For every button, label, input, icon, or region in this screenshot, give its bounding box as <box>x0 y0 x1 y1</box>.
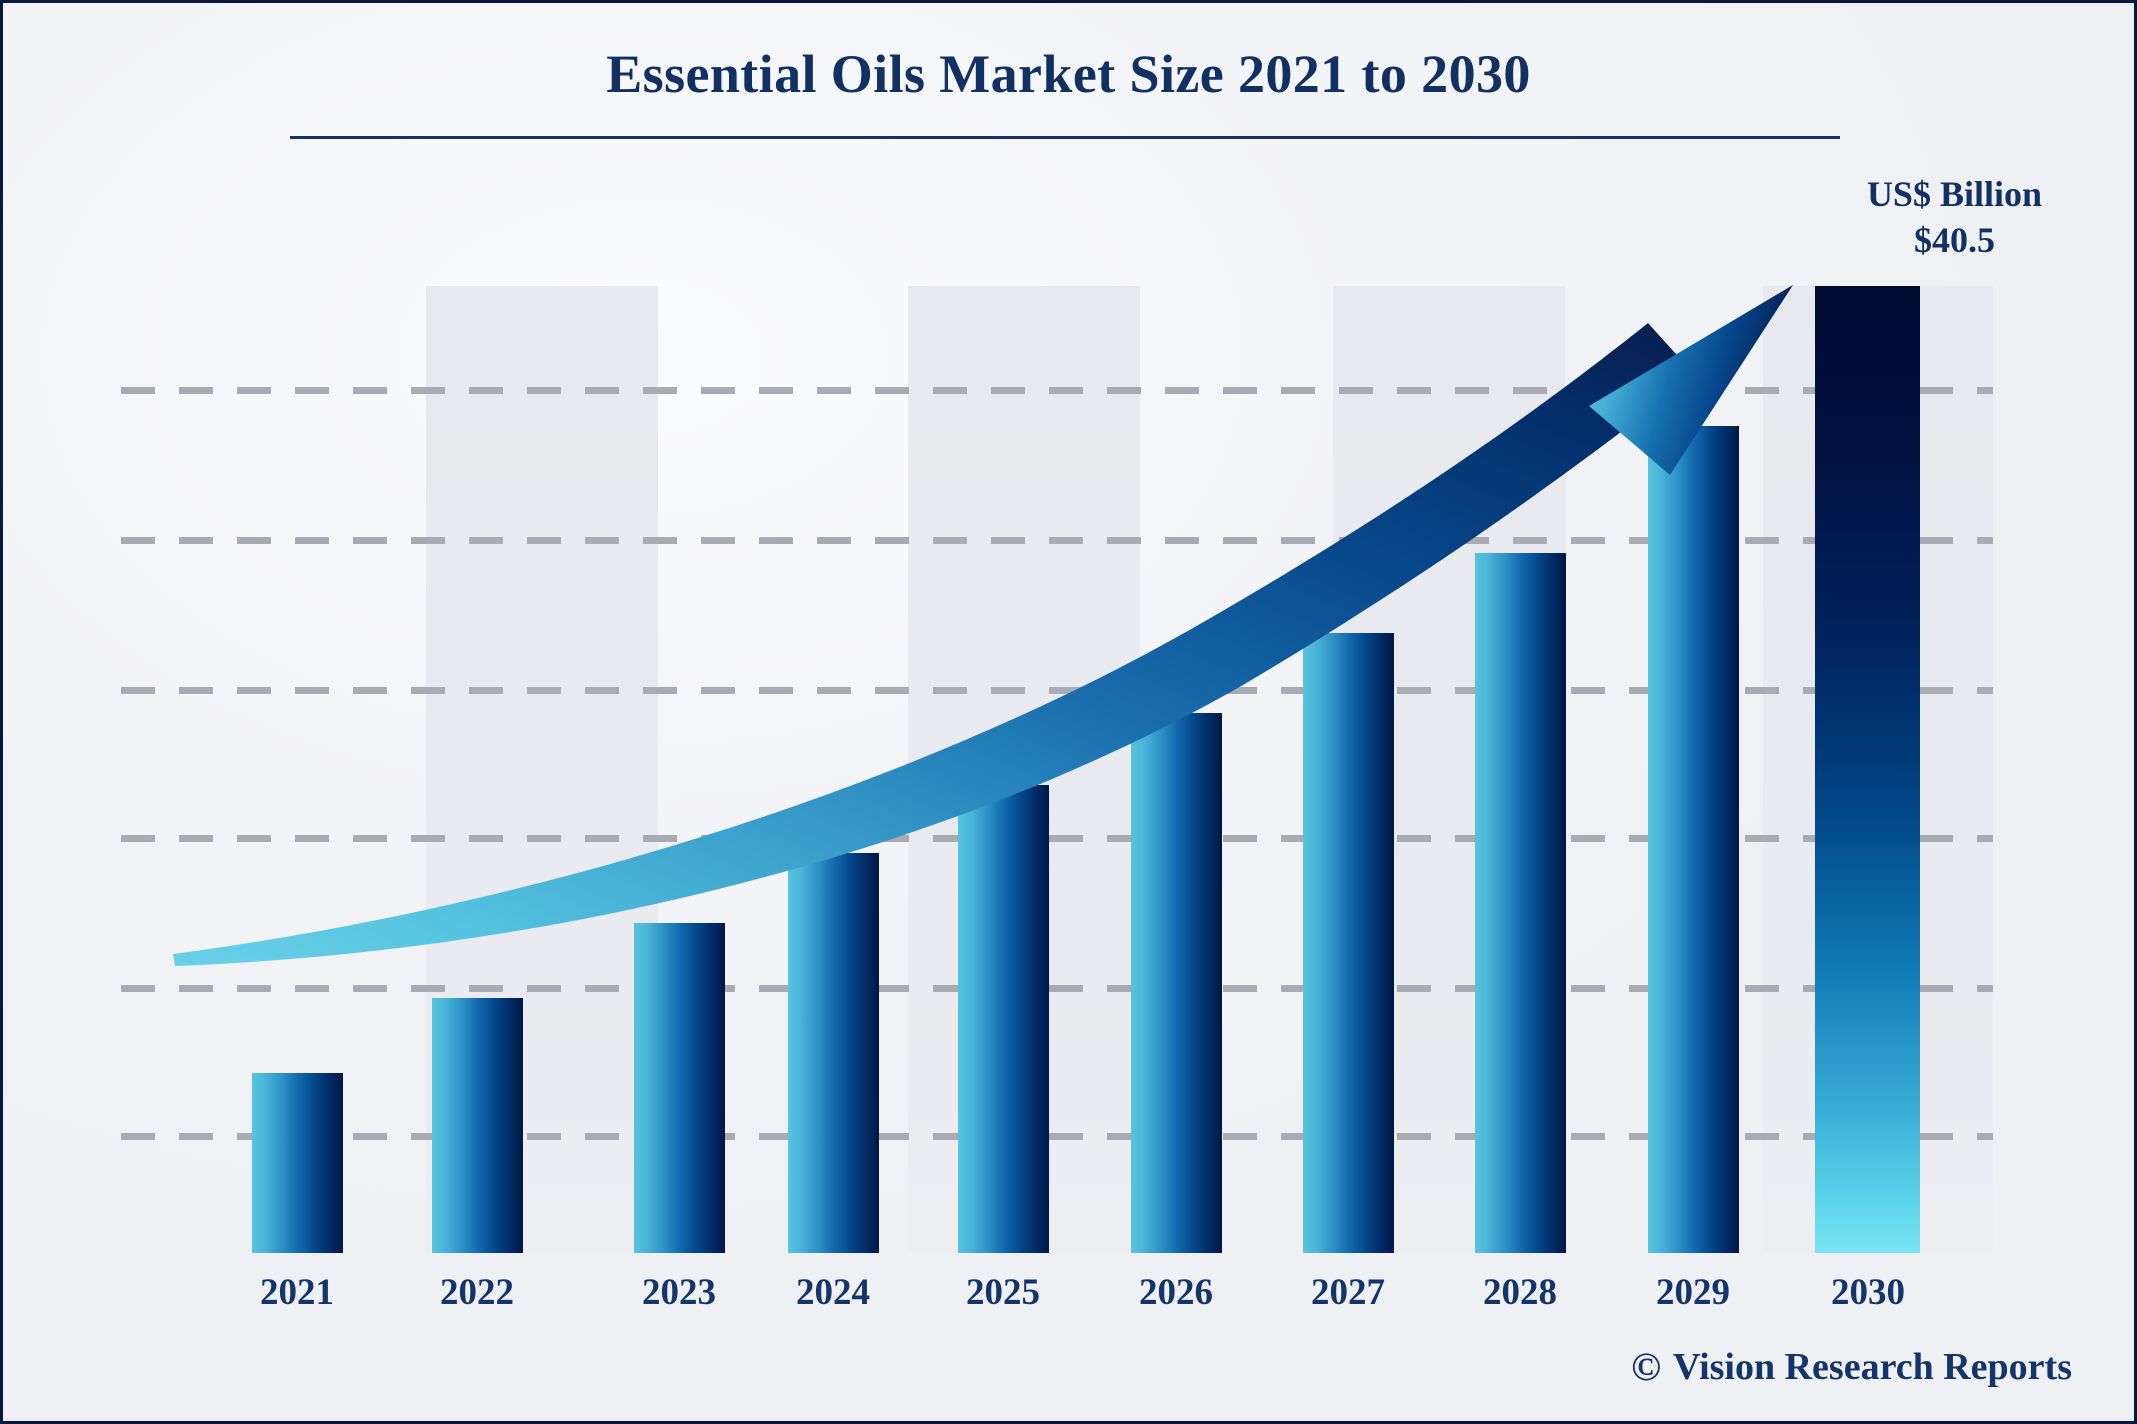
bar-2028[interactable] <box>1475 553 1566 1253</box>
xaxis-label-2030: 2030 <box>1803 1271 1933 1314</box>
chart-canvas: Essential Oils Market Size 2021 to 2030 … <box>0 0 2137 1424</box>
footer-watermark: © Vision Research Reports <box>1631 1345 2072 1389</box>
bar-2030[interactable] <box>1815 286 1920 1253</box>
bar-2027[interactable] <box>1303 633 1394 1253</box>
xaxis-label-2021: 2021 <box>232 1271 362 1314</box>
footer-text: Vision Research Reports <box>1673 1345 2072 1389</box>
bar-2029[interactable] <box>1648 426 1739 1253</box>
xaxis-label-2027: 2027 <box>1283 1271 1413 1314</box>
bar-2024[interactable] <box>788 853 879 1253</box>
xaxis-label-2022: 2022 <box>412 1271 542 1314</box>
xaxis-label-2025: 2025 <box>938 1271 1068 1314</box>
gridline <box>121 387 1993 394</box>
bar-2026[interactable] <box>1131 713 1222 1253</box>
xaxis-label-2028: 2028 <box>1455 1271 1585 1314</box>
xaxis-label-2029: 2029 <box>1628 1271 1758 1314</box>
copyright-icon: © <box>1631 1347 1661 1387</box>
bar-2022[interactable] <box>432 998 523 1253</box>
plot-area: 2021 2022 2023 2024 2025 2026 2027 2028 … <box>3 3 2137 1424</box>
bar-2025[interactable] <box>958 785 1049 1253</box>
bar-2023[interactable] <box>634 923 725 1253</box>
xaxis-label-2023: 2023 <box>614 1271 744 1314</box>
bar-2021[interactable] <box>252 1073 343 1253</box>
xaxis-label-2024: 2024 <box>768 1271 898 1314</box>
xaxis-label-2026: 2026 <box>1111 1271 1241 1314</box>
